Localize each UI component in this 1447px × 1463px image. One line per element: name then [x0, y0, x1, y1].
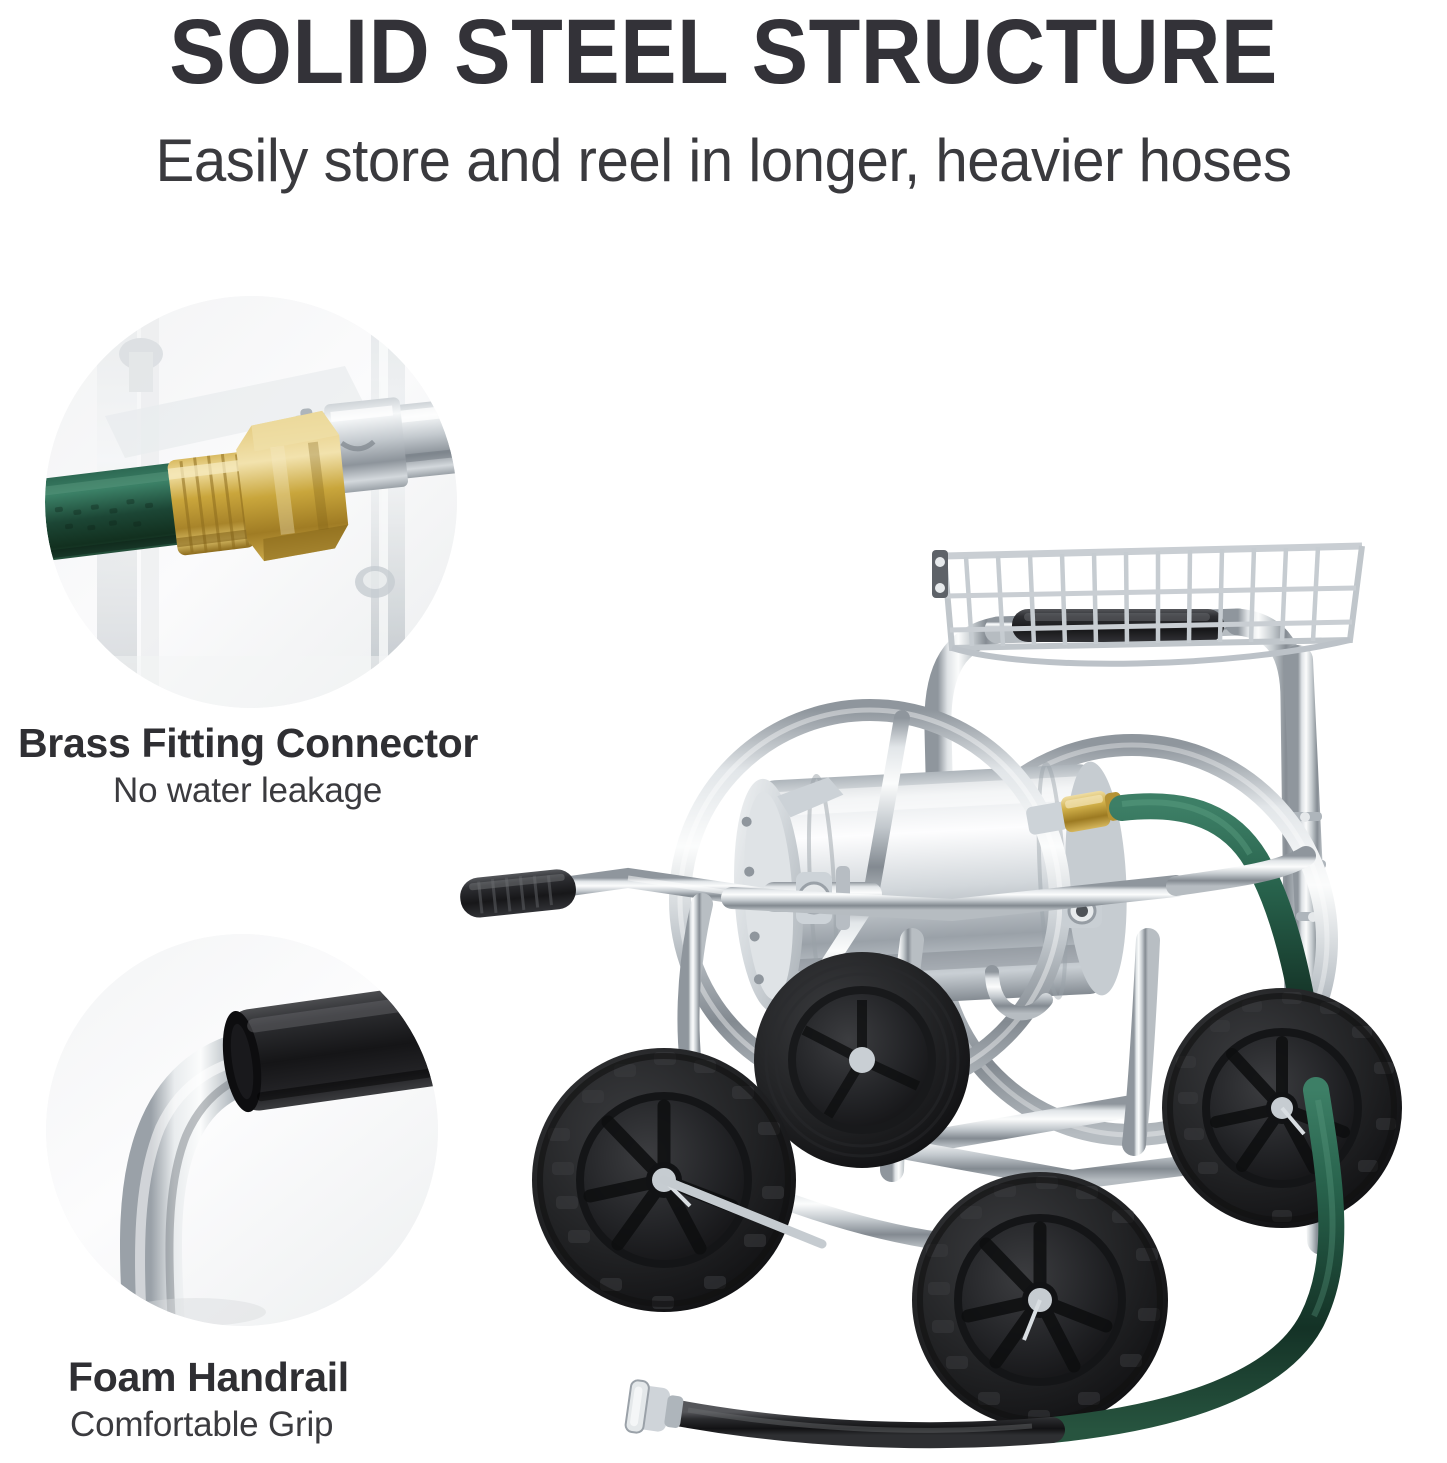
- brass-fitting-inset-photo: [45, 296, 457, 708]
- headline-block: SOLID STEEL STRUCTURE Easily store and r…: [0, 0, 1447, 215]
- foam-handrail-inset-photo: [46, 934, 438, 1326]
- page-subtitle: Easily store and reel in longer, heavier…: [22, 126, 1426, 196]
- page-title: SOLID STEEL STRUCTURE: [58, 0, 1389, 106]
- product-photo-hose-reel-cart: [432, 300, 1447, 1463]
